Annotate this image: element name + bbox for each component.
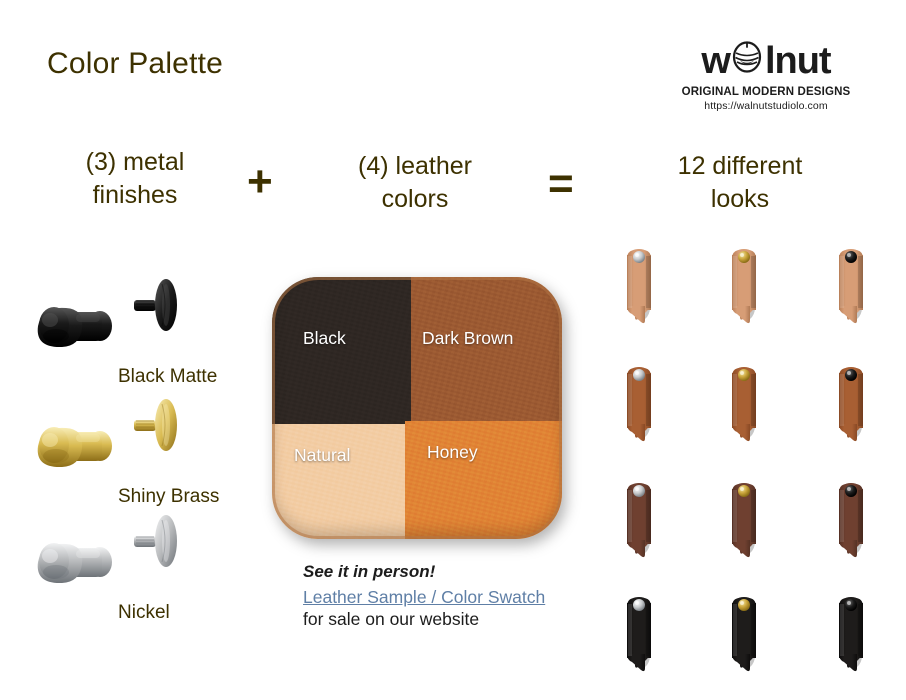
leather-sample-link[interactable]: Leather Sample / Color Swatch: [303, 587, 545, 608]
screw-post-icon-black-matte: [30, 272, 220, 372]
equation-result-term: 12 different looks: [630, 150, 850, 215]
leather-pull-natural-nickel: [622, 246, 666, 332]
caption-headline: See it in person!: [303, 562, 603, 582]
leather-pull-dark-brown-black-matte: [834, 480, 878, 566]
equals-operator-icon: =: [548, 162, 574, 206]
metal-finish-label: Black Matte: [118, 366, 217, 388]
leather-color-swatch: Black Dark Brown Natural Honey: [272, 277, 562, 539]
leather-pull-honey-shiny-brass: [727, 364, 771, 450]
leather-pull-honey-nickel: [622, 364, 666, 450]
brand-word-before: w: [701, 42, 730, 80]
page-title: Color Palette: [47, 47, 223, 81]
leather-pull-black-black-matte: [834, 594, 878, 680]
metal-finish-label: Shiny Brass: [118, 486, 219, 508]
leather-pull-honey-black-matte: [834, 364, 878, 450]
screw-post-icon-nickel: [30, 508, 220, 608]
swatch-label-honey: Honey: [427, 442, 478, 463]
walnut-icon: [730, 40, 764, 81]
brand-word-after: lnut: [765, 42, 831, 80]
brand-url: https://walnutstudiolo.com: [666, 100, 866, 112]
looks-grid: [596, 246, 896, 646]
caption-subtext: for sale on our website: [303, 609, 603, 630]
leather-pull-black-shiny-brass: [727, 594, 771, 680]
leather-pull-black-nickel: [622, 594, 666, 680]
swatch-label-dark-brown: Dark Brown: [422, 328, 513, 349]
leather-pull-dark-brown-nickel: [622, 480, 666, 566]
metal-finish-shiny-brass: Shiny Brass: [30, 392, 260, 510]
swatch-caption: See it in person! Leather Sample / Color…: [303, 562, 603, 630]
equation-metal-term: (3) metal finishes: [35, 146, 235, 211]
screw-post-icon-shiny-brass: [30, 392, 220, 492]
swatch-label-black: Black: [303, 328, 346, 349]
swatch-edge: [272, 277, 562, 539]
color-palette-infographic: Color Palette w lnut ORIGINAL MODERN DES…: [0, 0, 906, 700]
leather-pull-natural-black-matte: [834, 246, 878, 332]
brand-tagline: ORIGINAL MODERN DESIGNS: [666, 86, 866, 98]
metal-finish-nickel: Nickel: [30, 508, 260, 626]
metal-finish-black-matte: Black Matte: [30, 272, 260, 390]
swatch-label-natural: Natural: [294, 445, 350, 466]
metal-finish-label: Nickel: [118, 602, 170, 624]
leather-pull-dark-brown-shiny-brass: [727, 480, 771, 566]
leather-pull-natural-shiny-brass: [727, 246, 771, 332]
plus-operator-icon: +: [247, 160, 273, 204]
brand-logo: w lnut ORIGINAL MODERN DESIGNS https://w…: [666, 40, 866, 112]
equation-row: (3) metal finishes + (4) leather colors …: [0, 146, 906, 218]
equation-leather-term: (4) leather colors: [315, 150, 515, 215]
brand-wordmark: w lnut: [666, 40, 866, 81]
